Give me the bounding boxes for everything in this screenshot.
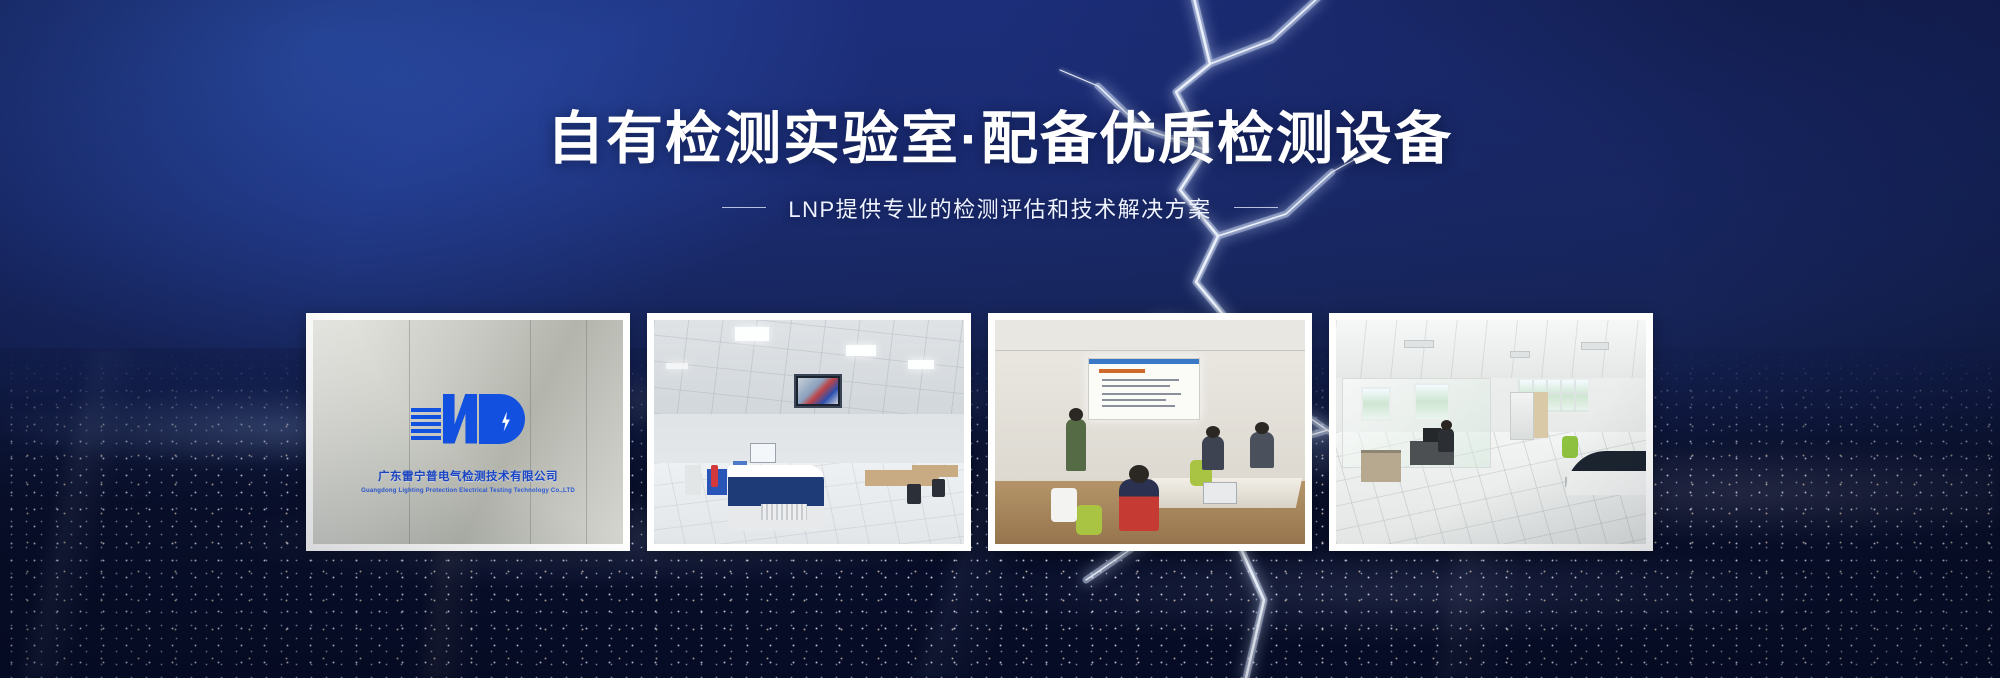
company-name-en: Guangdong Lighting Protection Electrical… — [313, 488, 623, 494]
page-subtitle: LNP提供专业的检测评估和技术解决方案 — [788, 192, 1211, 224]
projector-screen-icon — [1088, 358, 1200, 420]
rule-right-icon — [1234, 207, 1278, 208]
photo-frame-training-meeting-room[interactable] — [988, 313, 1312, 551]
photo-training-meeting-room — [995, 320, 1305, 544]
page-title: 自有检测实验室·配备优质检测设备 — [0, 108, 2000, 172]
photo-gallery: 广东雷宁普电气检测技术有限公司 Guangdong Lighting Prote… — [306, 313, 1653, 551]
person-seated-icon — [1250, 432, 1274, 468]
photo-frame-company-logo-wall[interactable]: 广东雷宁普电气检测技术有限公司 Guangdong Lighting Prote… — [306, 313, 630, 551]
person-foreground-icon — [1119, 479, 1159, 531]
rule-left-icon — [722, 207, 766, 208]
person-seated-icon — [1202, 436, 1224, 470]
lnp-logo-icon — [411, 394, 525, 444]
headline-block: 自有检测实验室·配备优质检测设备 LNP提供专业的检测评估和技术解决方案 — [0, 108, 2000, 224]
photo-company-logo-wall: 广东雷宁普电气检测技术有限公司 Guangdong Lighting Prote… — [313, 320, 623, 544]
wall-monitor-icon — [794, 374, 842, 408]
photo-testing-laboratory — [654, 320, 964, 544]
photo-frame-testing-laboratory[interactable] — [647, 313, 971, 551]
photo-office-reception-area — [1336, 320, 1646, 544]
person-presenting-icon — [1066, 419, 1086, 471]
person-at-desk-icon — [1438, 428, 1454, 452]
subtitle-row: LNP提供专业的检测评估和技术解决方案 — [0, 192, 2000, 224]
photo-frame-office-reception-area[interactable] — [1329, 313, 1653, 551]
company-name-cn: 广东雷宁普电气检测技术有限公司 — [313, 468, 623, 484]
control-console-icon — [728, 465, 824, 531]
hero-banner: 自有检测实验室·配备优质检测设备 LNP提供专业的检测评估和技术解决方案 广东雷… — [0, 0, 2000, 678]
